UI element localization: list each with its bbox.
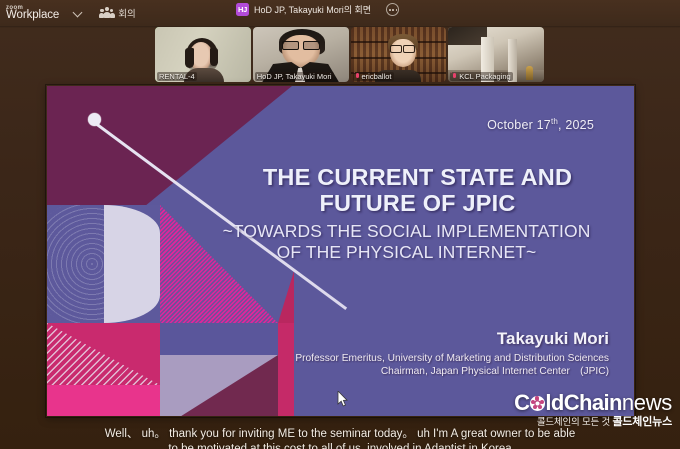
slide-shape-half-circle xyxy=(104,205,160,323)
participant-name: RENTAL-4 xyxy=(159,72,195,81)
chevron-down-icon[interactable] xyxy=(73,8,83,18)
video-room-person xyxy=(526,66,533,80)
watermark-text-c: C xyxy=(514,392,529,414)
slide-shape-crimson-strip xyxy=(278,323,294,416)
mic-muted-icon xyxy=(355,73,360,81)
slide-date-ordinal: th xyxy=(551,117,558,126)
brand-area: zoom Workplace 회의 xyxy=(0,5,136,22)
watermark-text-news: news xyxy=(622,392,672,414)
participant-name: ericballot xyxy=(362,72,392,81)
participant-tile-active[interactable]: RENTAL-4 xyxy=(155,27,251,82)
participant-name-badge: ericballot xyxy=(353,72,394,81)
slide-author-name: Takayuki Mori xyxy=(295,329,609,349)
participant-tile[interactable]: KCL Packaging xyxy=(448,27,544,82)
slide-title: THE CURRENT STATE AND FUTURE OF JPIC xyxy=(227,164,608,217)
zoom-workplace-logo: zoom Workplace xyxy=(6,5,59,22)
slide-date: October 17th, 2025 xyxy=(487,117,594,132)
slide-shape-purple-band xyxy=(160,323,278,355)
presenter-avatar-badge: HJ xyxy=(236,3,249,16)
slide-author-affiliation-2: Chairman, Japan Physical Internet Center… xyxy=(295,365,609,378)
mic-muted-icon xyxy=(452,73,457,81)
film-reel-logo-icon xyxy=(530,396,545,411)
coldchainnews-watermark: C ldChain news 콜드체인의 모든 것 콜드체인뉴스 xyxy=(514,392,672,428)
watermark-text-ldchain: ldChain xyxy=(545,392,621,414)
participant-tile[interactable]: ericballot xyxy=(351,27,447,82)
meetings-nav-label: 회의 xyxy=(118,6,135,20)
live-caption-area: Well、 uh。 thank you for inviting ME to t… xyxy=(0,427,680,449)
screen-share-title: HoD JP, Takayuki Mori의 회면 xyxy=(254,3,371,16)
caption-line-2: to be motivated at this cost to all of u… xyxy=(0,442,680,449)
video-person-face xyxy=(390,39,416,67)
slide-subtitle: ~TOWARDS THE SOCIAL IMPLEMENTATION OF TH… xyxy=(197,221,616,262)
watermark-wordmark: C ldChain news xyxy=(514,392,672,414)
slide-title-line1: THE CURRENT STATE AND xyxy=(227,164,608,190)
people-group-icon xyxy=(99,7,114,19)
mouse-pointer-icon xyxy=(337,391,348,407)
slide-date-year: , 2025 xyxy=(558,118,594,132)
participant-name: HoD JP, Takayuki Mori xyxy=(257,72,332,81)
screen-share-indicator: HJ HoD JP, Takayuki Mori의 회면 xyxy=(236,3,399,16)
video-person-hair-left xyxy=(185,48,194,68)
video-person-glasses xyxy=(282,41,320,49)
video-person-glasses xyxy=(390,45,415,51)
slide-author-affiliation-1: Professor Emeritus, University of Market… xyxy=(295,352,609,365)
slide-subtitle-line1: ~TOWARDS THE SOCIAL IMPLEMENTATION xyxy=(197,221,616,242)
slide-subtitle-line2: OF THE PHYSICAL INTERNET~ xyxy=(197,242,616,263)
slide-shape-pink-block xyxy=(47,385,160,416)
video-person-hair-right xyxy=(210,48,218,66)
participant-tile[interactable]: HoD JP, Takayuki Mori xyxy=(253,27,349,82)
zoom-meeting-window: zoom Workplace 회의 HJ HoD JP, Takayuki Mo… xyxy=(0,0,680,449)
participant-filmstrip: RENTAL-4 HoD JP, Takayuki Mori xyxy=(155,27,544,82)
slide-shape-circle-dot xyxy=(88,113,101,126)
participant-name-badge: RENTAL-4 xyxy=(157,72,197,81)
video-person-face xyxy=(282,35,320,67)
slide-author-block: Takayuki Mori Professor Emeritus, Univer… xyxy=(295,329,609,379)
slide-title-line2: FUTURE OF JPIC xyxy=(227,190,608,216)
caption-line-1: Well、 uh。 thank you for inviting ME to t… xyxy=(105,428,576,440)
participant-name-badge: KCL Packaging xyxy=(450,72,512,81)
slide-date-text: October 17 xyxy=(487,118,551,132)
meetings-nav-item[interactable]: 회의 xyxy=(99,6,135,20)
zoom-logo-bottom-text: Workplace xyxy=(6,10,59,22)
more-options-circle-icon[interactable] xyxy=(386,3,399,16)
zoom-top-bar: zoom Workplace 회의 HJ HoD JP, Takayuki Mo… xyxy=(0,0,680,26)
shared-screen-slide[interactable]: October 17th, 2025 THE CURRENT STATE AND… xyxy=(47,86,634,416)
participant-name-badge: HoD JP, Takayuki Mori xyxy=(255,72,334,81)
participant-name: KCL Packaging xyxy=(459,72,510,81)
